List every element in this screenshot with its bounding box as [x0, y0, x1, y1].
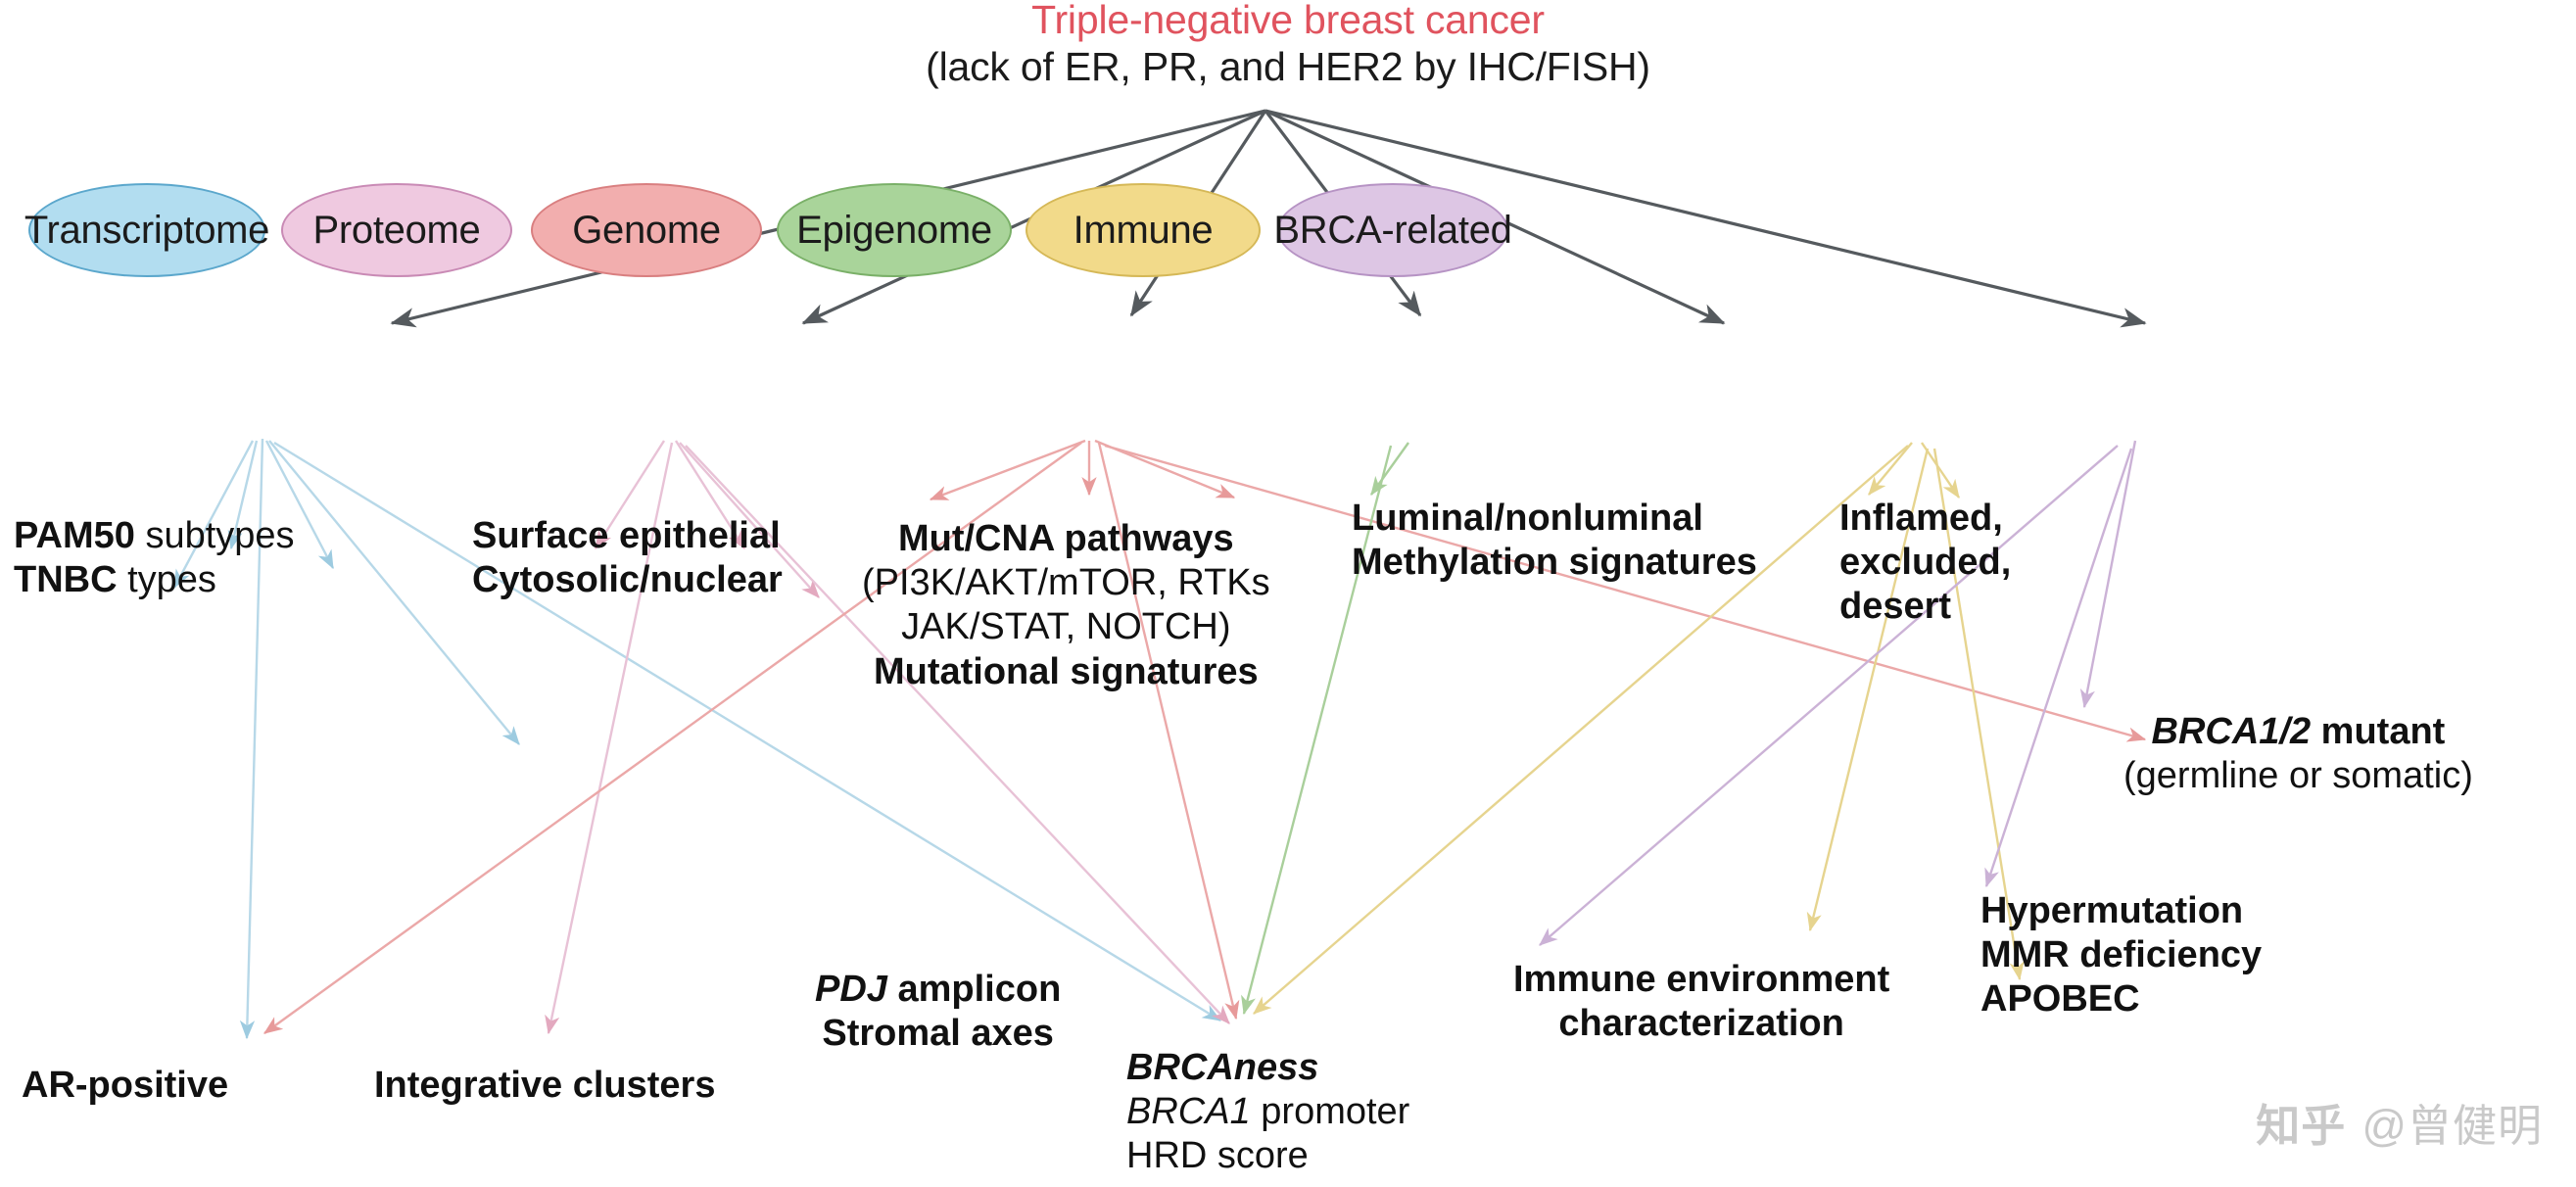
note-run: PDJ: [815, 969, 887, 1010]
note-run: JAK/STAT, NOTCH): [901, 606, 1230, 647]
node-immune[interactable]: Immune: [1026, 183, 1261, 277]
note-run: Integrative clusters: [374, 1065, 715, 1106]
note-line: (germline or somatic): [2123, 754, 2473, 798]
node-label: Genome: [572, 209, 721, 253]
note-run: Luminal/nonluminal: [1352, 498, 1703, 539]
note-run: characterization: [1558, 1003, 1843, 1044]
note-line: BRCAness: [1126, 1046, 1409, 1090]
note-run: Surface epithelial: [472, 515, 781, 556]
zhihu-logo: 知乎: [2256, 1090, 2346, 1154]
note-line: Hypermutation: [1980, 889, 2262, 933]
note-run: desert: [1839, 586, 1951, 627]
note-line: BRCA1/2 mutant: [2123, 710, 2473, 754]
watermark-handle: @曾健明: [2361, 1090, 2543, 1154]
note-line: Mut/CNA pathways: [862, 517, 1270, 561]
note-run: Mut/CNA pathways: [898, 518, 1234, 559]
note-run: HRD score: [1126, 1135, 1309, 1176]
note-line: (PI3K/AKT/mTOR, RTKs: [862, 561, 1270, 605]
note-hypermutation: HypermutationMMR deficiencyAPOBEC: [1980, 889, 2262, 1022]
watermark: 知乎 @曾健明: [2256, 1090, 2543, 1154]
note-ar-positive: AR-positive: [22, 1064, 228, 1108]
note-run: BRCA1/2: [2152, 711, 2312, 752]
note-line: PAM50 subtypes: [14, 514, 295, 558]
note-line: characterization: [1513, 1002, 1889, 1046]
note-run: APOBEC: [1980, 978, 2140, 1020]
node-brca-related[interactable]: BRCA-related: [1277, 183, 1508, 277]
note-line: Immune environment: [1513, 958, 1889, 1002]
note-run: Inflamed,: [1839, 498, 2003, 539]
note-transcriptome: PAM50 subtypesTNBC types: [14, 514, 295, 602]
page-title: Triple-negative breast cancer (lack of E…: [0, 0, 2576, 91]
note-line: Methylation signatures: [1352, 541, 1757, 585]
node-label: Transcriptome: [24, 209, 269, 253]
node-label: Proteome: [312, 209, 480, 253]
note-run: MMR deficiency: [1980, 934, 2262, 975]
note-genome: Mut/CNA pathways(PI3K/AKT/mTOR, RTKsJAK/…: [862, 517, 1270, 694]
note-integrative-clusters: Integrative clusters: [374, 1064, 715, 1108]
note-run: excluded,: [1839, 542, 2011, 583]
note-line: Mutational signatures: [862, 650, 1270, 694]
note-line: Surface epithelial: [472, 514, 783, 558]
note-immune-environment: Immune environmentcharacterization: [1513, 958, 1889, 1046]
title-secondary: (lack of ER, PR, and HER2 by IHC/FISH): [0, 43, 2576, 90]
note-run: PAM50: [14, 515, 135, 556]
node-label: Epigenome: [796, 209, 992, 253]
note-run: mutant: [2311, 711, 2445, 752]
note-run: BRCAness: [1126, 1047, 1318, 1088]
note-run: BRCA1: [1126, 1091, 1251, 1132]
note-line: Cytosolic/nuclear: [472, 558, 783, 602]
note-run: TNBC: [14, 559, 118, 600]
note-line: HRD score: [1126, 1134, 1409, 1178]
note-line: Luminal/nonluminal: [1352, 497, 1757, 541]
node-epigenome[interactable]: Epigenome: [777, 183, 1012, 277]
note-run: (PI3K/AKT/mTOR, RTKs: [862, 562, 1270, 603]
note-line: Integrative clusters: [374, 1064, 715, 1108]
note-run: Mutational signatures: [874, 651, 1259, 692]
note-epigenome: Luminal/nonluminalMethylation signatures: [1352, 497, 1757, 585]
note-run: amplicon: [887, 969, 1061, 1010]
node-proteome[interactable]: Proteome: [281, 183, 512, 277]
note-run: types: [118, 559, 216, 600]
node-transcriptome[interactable]: Transcriptome: [28, 183, 265, 277]
note-proteome: Surface epithelialCytosolic/nuclear: [472, 514, 783, 602]
note-run: Hypermutation: [1980, 890, 2243, 931]
note-run: Stromal axes: [822, 1013, 1054, 1054]
note-run: promoter: [1251, 1091, 1410, 1132]
note-immune: Inflamed,excluded,desert: [1839, 497, 2011, 630]
note-line: BRCA1 promoter: [1126, 1090, 1409, 1134]
note-line: MMR deficiency: [1980, 933, 2262, 977]
note-line: JAK/STAT, NOTCH): [862, 605, 1270, 649]
title-primary: Triple-negative breast cancer: [0, 0, 2576, 43]
note-run: Methylation signatures: [1352, 542, 1757, 583]
node-label: Immune: [1073, 209, 1214, 253]
note-line: AR-positive: [22, 1064, 228, 1108]
node-genome[interactable]: Genome: [531, 183, 762, 277]
note-line: PDJ amplicon: [815, 968, 1061, 1012]
node-label: BRCA-related: [1273, 209, 1511, 253]
note-run: AR-positive: [22, 1065, 228, 1106]
note-run: Immune environment: [1513, 959, 1889, 1000]
diagram-canvas: Triple-negative breast cancer (lack of E…: [0, 0, 2576, 1187]
note-run: (germline or somatic): [2123, 755, 2473, 796]
note-line: Stromal axes: [815, 1012, 1061, 1056]
note-line: Inflamed,: [1839, 497, 2011, 541]
note-run: subtypes: [135, 515, 295, 556]
note-line: excluded,: [1839, 541, 2011, 585]
note-pdj-amplicon: PDJ ampliconStromal axes: [815, 968, 1061, 1056]
note-line: APOBEC: [1980, 977, 2262, 1021]
note-brcaness: BRCAnessBRCA1 promoterHRD score: [1126, 1046, 1409, 1179]
note-run: Cytosolic/nuclear: [472, 559, 783, 600]
note-line: desert: [1839, 585, 2011, 629]
note-brca-mutant: BRCA1/2 mutant(germline or somatic): [2123, 710, 2473, 798]
note-line: TNBC types: [14, 558, 295, 602]
